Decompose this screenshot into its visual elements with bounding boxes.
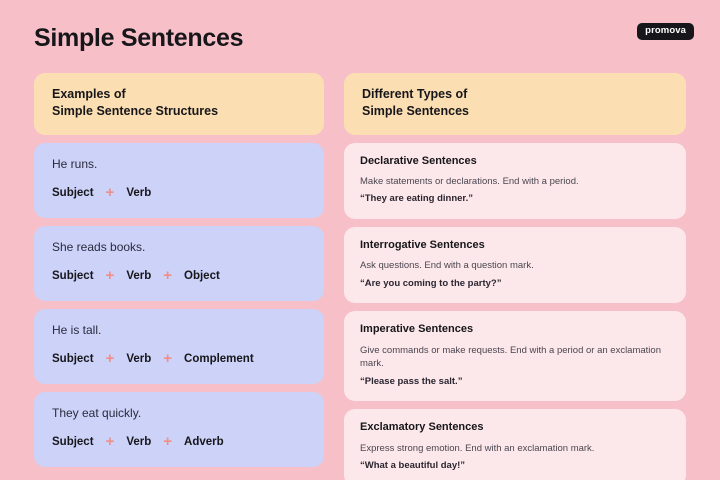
infographic-page: Simple Sentences promova Examples of Sim…	[0, 0, 720, 480]
sentence-type-example: “What a beautiful day!”	[360, 460, 670, 473]
structure-example-sentence: He is tall.	[52, 323, 306, 337]
plus-icon: +	[163, 268, 172, 283]
structure-formula: Subject + Verb	[52, 186, 306, 201]
sentence-type-title: Interrogative Sentences	[360, 239, 670, 252]
plus-icon: +	[163, 434, 172, 449]
sentence-type-title: Exclamatory Sentences	[360, 421, 670, 434]
structure-card: They eat quickly. Subject + Verb + Adver…	[34, 392, 324, 467]
plus-icon: +	[106, 434, 115, 449]
promova-logo: promova	[637, 23, 694, 40]
formula-part: Verb	[126, 353, 151, 365]
formula-part: Subject	[52, 436, 94, 448]
right-header-line-1: Different Types of	[362, 86, 668, 103]
formula-part: Adverb	[184, 436, 224, 448]
sentence-type-card: Exclamatory Sentences Express strong emo…	[344, 409, 686, 480]
sentence-type-card: Imperative Sentences Give commands or ma…	[344, 311, 686, 401]
right-header-line-2: Simple Sentences	[362, 103, 668, 120]
sentence-type-description: Express strong emotion. End with an excl…	[360, 442, 670, 455]
structure-formula: Subject + Verb + Complement	[52, 352, 306, 367]
structure-example-sentence: They eat quickly.	[52, 406, 306, 420]
left-column-header: Examples of Simple Sentence Structures	[34, 73, 324, 135]
right-column: Different Types of Simple Sentences Decl…	[344, 73, 686, 480]
sentence-type-example: “Are you coming to the party?”	[360, 278, 670, 291]
structure-card: He runs. Subject + Verb	[34, 143, 324, 218]
plus-icon: +	[106, 185, 115, 200]
structure-example-sentence: He runs.	[52, 157, 306, 171]
formula-part: Object	[184, 270, 220, 282]
sentence-type-title: Declarative Sentences	[360, 155, 670, 168]
formula-part: Verb	[126, 270, 151, 282]
plus-icon: +	[106, 351, 115, 366]
left-header-line-2: Simple Sentence Structures	[52, 103, 306, 120]
left-header-line-1: Examples of	[52, 86, 306, 103]
formula-part: Subject	[52, 187, 94, 199]
sentence-type-example: “Please pass the salt.”	[360, 376, 670, 389]
sentence-type-card: Interrogative Sentences Ask questions. E…	[344, 227, 686, 303]
sentence-type-description: Ask questions. End with a question mark.	[360, 259, 670, 272]
sentence-type-description: Make statements or declarations. End wit…	[360, 175, 670, 188]
formula-part: Subject	[52, 270, 94, 282]
formula-part: Complement	[184, 353, 254, 365]
sentence-type-title: Imperative Sentences	[360, 323, 670, 336]
plus-icon: +	[106, 268, 115, 283]
sentence-type-card: Declarative Sentences Make statements or…	[344, 143, 686, 219]
left-column: Examples of Simple Sentence Structures H…	[34, 73, 324, 467]
structure-formula: Subject + Verb + Adverb	[52, 435, 306, 450]
structure-formula: Subject + Verb + Object	[52, 269, 306, 284]
formula-part: Verb	[126, 436, 151, 448]
right-column-header: Different Types of Simple Sentences	[344, 73, 686, 135]
sentence-type-description: Give commands or make requests. End with…	[360, 344, 670, 371]
plus-icon: +	[163, 351, 172, 366]
formula-part: Verb	[126, 187, 151, 199]
page-title: Simple Sentences	[34, 24, 243, 53]
structure-card: He is tall. Subject + Verb + Complement	[34, 309, 324, 384]
structure-example-sentence: She reads books.	[52, 240, 306, 254]
structure-card: She reads books. Subject + Verb + Object	[34, 226, 324, 301]
formula-part: Subject	[52, 353, 94, 365]
sentence-type-example: “They are eating dinner.”	[360, 193, 670, 206]
